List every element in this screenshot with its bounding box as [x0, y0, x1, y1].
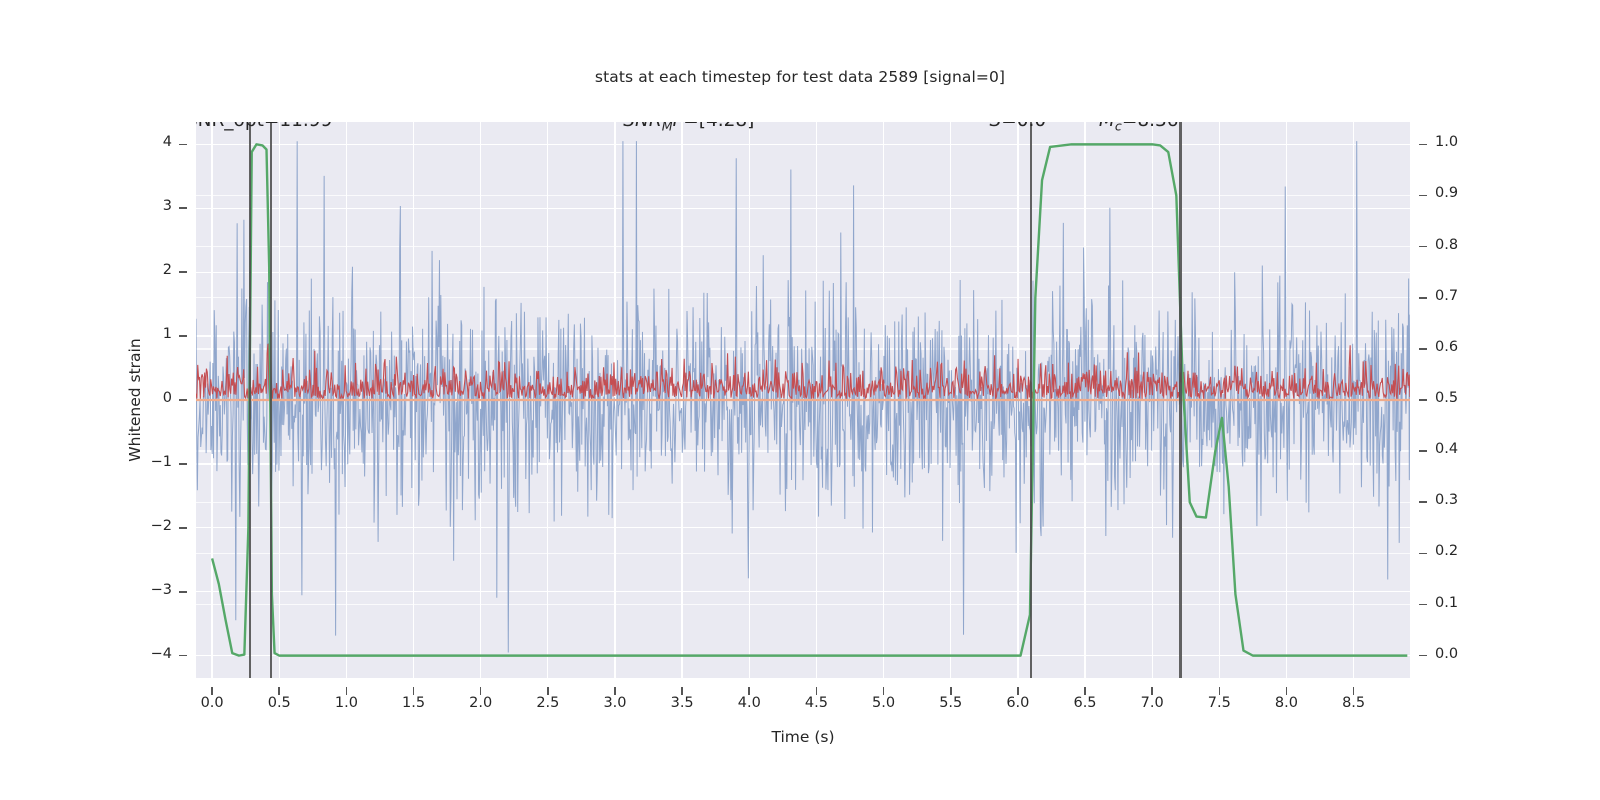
annotation-mchirp: Mc=8.36 — [1099, 122, 1179, 134]
page-title: stats at each timestep for test data 258… — [0, 68, 1600, 86]
x-tick-mark — [1151, 687, 1153, 695]
y-right-tick-mark — [1419, 399, 1427, 401]
y-left-tick-label: −2 — [0, 518, 172, 534]
annotation-snr-opt: SNR_opt=11.99 — [196, 122, 332, 131]
x-tick-mark — [1353, 687, 1355, 695]
y-right-tick-mark — [1419, 144, 1427, 146]
x-tick-mark — [211, 687, 213, 695]
trace-signal-plus-noise — [196, 141, 1410, 652]
vertical-marker-line — [1030, 122, 1032, 678]
x-tick-mark — [681, 687, 683, 695]
y-right-tick-label: 0.6 — [1435, 339, 1458, 355]
y-left-tick-label: −4 — [0, 646, 172, 662]
y-right-tick-mark — [1419, 655, 1427, 657]
y-right-tick-mark — [1419, 604, 1427, 606]
y-right-tick-label: 0.2 — [1435, 543, 1458, 559]
y-left-tick-mark — [179, 207, 187, 209]
y-left-tick-mark — [179, 399, 187, 401]
x-tick-mark — [1219, 687, 1221, 695]
y-right-tick-mark — [1419, 195, 1427, 197]
y-right-tick-label: 0.4 — [1435, 441, 1458, 457]
y-left-tick-label: 0 — [0, 390, 172, 406]
y-left-tick-mark — [179, 335, 187, 337]
x-tick-mark — [748, 687, 750, 695]
y-right-tick-label: 0.0 — [1435, 646, 1458, 662]
x-axis-label: Time (s) — [196, 728, 1410, 746]
trace-mf — [196, 344, 1410, 399]
y-right-tick-mark — [1419, 297, 1427, 299]
y-left-tick-label: −1 — [0, 454, 172, 470]
y-right-tick-label: 0.3 — [1435, 492, 1458, 508]
x-tick-label: 8.5 — [1314, 695, 1394, 711]
y-left-tick-mark — [179, 527, 187, 529]
x-tick-mark — [480, 687, 482, 695]
y-right-tick-mark — [1419, 450, 1427, 452]
y-right-tick-mark — [1419, 348, 1427, 350]
y-right-tick-label: 0.8 — [1435, 237, 1458, 253]
y-right-tick-mark — [1419, 553, 1427, 555]
y-left-tick-mark — [179, 591, 187, 593]
plot-axes: SNR_opt=11.99SNRMF=[4.28]S=0.0Mc=8.36 si… — [196, 122, 1410, 678]
annotation-snr-mf: SNRMF=[4.28] — [623, 122, 754, 134]
x-tick-mark — [413, 687, 415, 695]
y-right-tick-label: 0.1 — [1435, 595, 1458, 611]
x-tick-mark — [547, 687, 549, 695]
y-right-tick-label: 0.9 — [1435, 185, 1458, 201]
x-tick-mark — [614, 687, 616, 695]
vertical-marker-line — [249, 122, 251, 678]
x-tick-mark — [346, 687, 348, 695]
vertical-marker-line — [270, 122, 272, 678]
y-right-tick-label: 1.0 — [1435, 134, 1458, 150]
y-left-tick-mark — [179, 271, 187, 273]
x-tick-mark — [950, 687, 952, 695]
y-left-tick-label: 2 — [0, 262, 172, 278]
y-left-tick-label: 3 — [0, 198, 172, 214]
x-tick-mark — [1084, 687, 1086, 695]
y-right-tick-mark — [1419, 246, 1427, 248]
x-tick-mark — [1286, 687, 1288, 695]
y-right-tick-label: 0.5 — [1435, 390, 1458, 406]
x-tick-mark — [1017, 687, 1019, 695]
y-left-tick-label: 4 — [0, 134, 172, 150]
y-left-tick-label: −3 — [0, 582, 172, 598]
y-right-tick-label: 0.7 — [1435, 288, 1458, 304]
y-left-tick-label: 1 — [0, 326, 172, 342]
x-tick-mark — [278, 687, 280, 695]
y-left-tick-mark — [179, 655, 187, 657]
x-tick-mark — [816, 687, 818, 695]
y-left-tick-mark — [179, 144, 187, 146]
annotation-s-stat: S=0.0 — [990, 122, 1047, 131]
figure-canvas: stats at each timestep for test data 258… — [0, 0, 1600, 800]
y-right-tick-mark — [1419, 501, 1427, 503]
y-left-tick-mark — [179, 463, 187, 465]
data-traces — [196, 122, 1410, 678]
vertical-marker-line — [1179, 122, 1181, 678]
x-tick-mark — [883, 687, 885, 695]
